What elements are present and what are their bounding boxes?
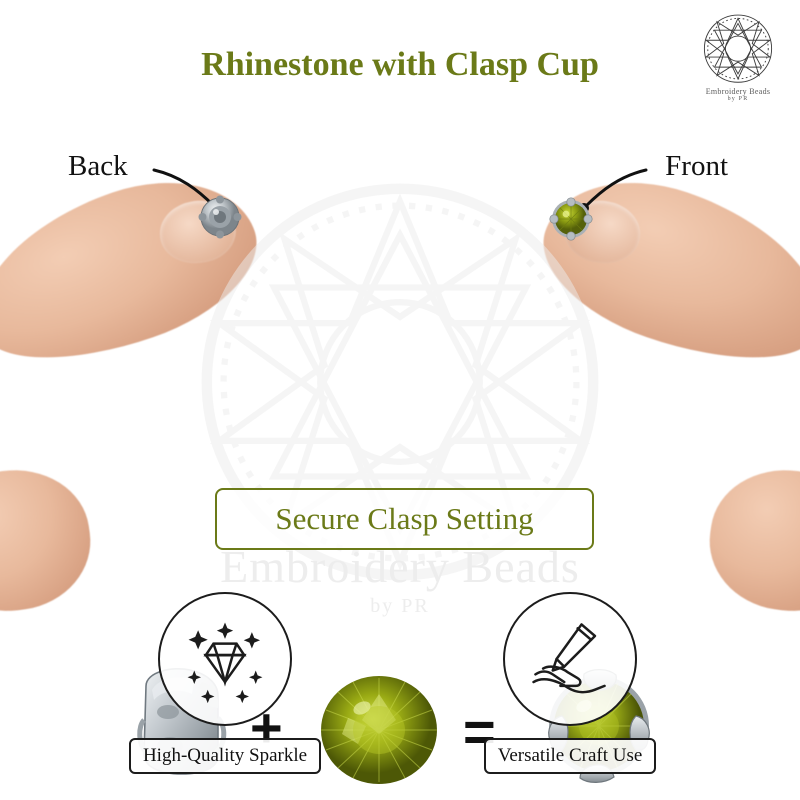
brand-logo: Embroidery Beads by PR — [690, 10, 786, 106]
label-back: Back — [68, 150, 128, 183]
page-title: Rhinestone with Clasp Cup — [0, 46, 800, 84]
rhinestone-back-view-on-finger — [197, 194, 243, 240]
image-canvas: Embroidery Beads by PR Rhinestone with C… — [0, 0, 800, 800]
feature-label-right: Versatile Craft Use — [484, 738, 657, 774]
logo-sub-caption: by PR — [690, 96, 786, 102]
feature-high-quality-sparkle: High-Quality Sparkle — [110, 592, 340, 774]
feature-icon-circle-left — [158, 592, 292, 726]
label-front: Front — [665, 150, 728, 183]
rhinestone-front-view-on-finger — [548, 196, 594, 242]
feature-icon-circle-right — [503, 592, 637, 726]
secure-clasp-setting-banner: Secure Clasp Setting — [215, 488, 594, 550]
hand-with-pencil-icon — [522, 611, 618, 707]
finger-bottom-left — [0, 460, 99, 620]
diamond-sparkle-icon — [177, 611, 273, 707]
feature-versatile-craft-use: Versatile Craft Use — [455, 592, 685, 774]
assembly-equation: + = — [0, 330, 800, 475]
secure-clasp-setting-label: Secure Clasp Setting — [275, 501, 533, 537]
finger-bottom-right — [701, 460, 800, 620]
logo-star-mandala-icon — [690, 10, 786, 94]
feature-label-left: High-Quality Sparkle — [129, 738, 321, 774]
